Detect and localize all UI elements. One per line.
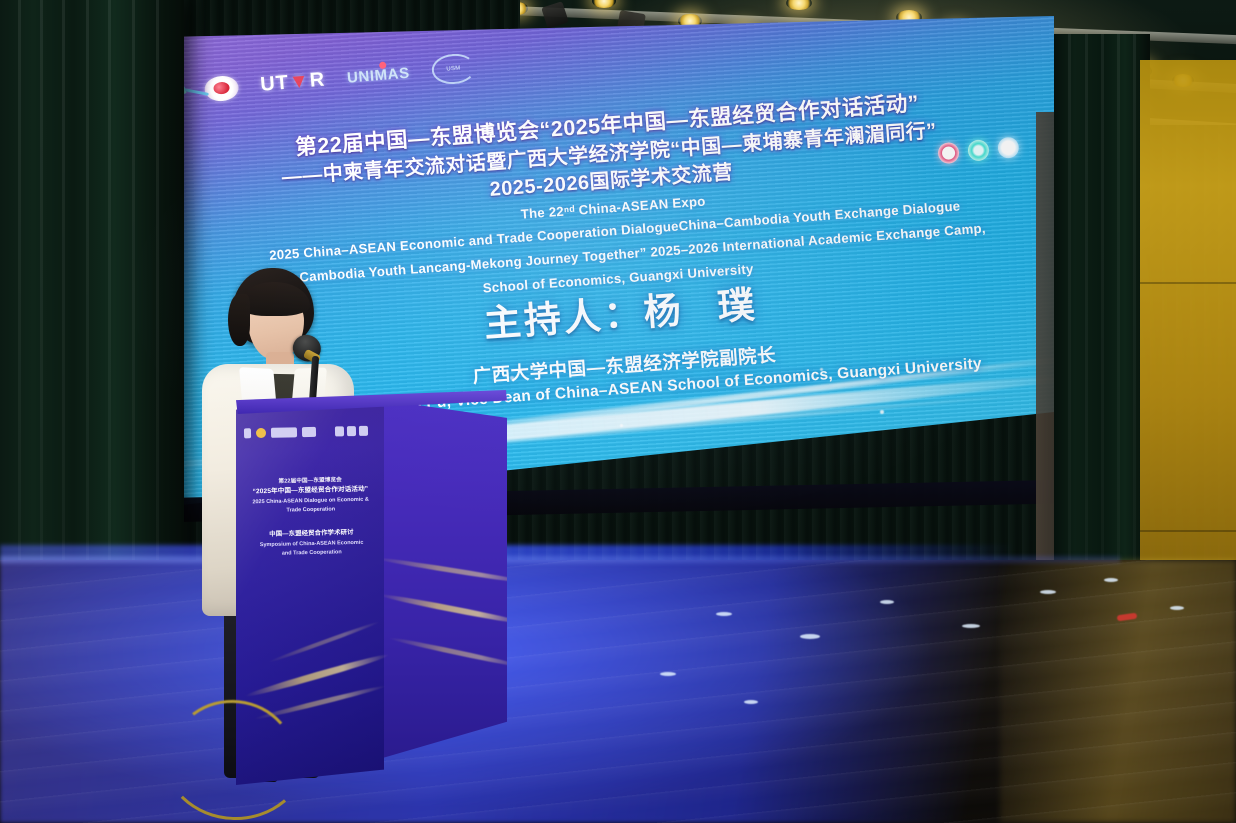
partner-logo-2 xyxy=(271,427,297,438)
title-en-line1: 2025 China–ASEAN Economic and Trade Coop… xyxy=(180,191,1051,272)
light-ribbon xyxy=(482,348,1054,431)
wechat-icon xyxy=(937,142,960,165)
partner-logo-4 xyxy=(335,426,344,436)
podium-side-panel xyxy=(383,400,507,772)
partner-logo-5 xyxy=(347,426,356,436)
usm-logo: USM xyxy=(430,52,476,86)
podium-logo-bar xyxy=(244,423,376,442)
china-emblem-logo xyxy=(204,74,240,102)
caexpo-logo xyxy=(244,428,251,438)
host-name-second: 璞 xyxy=(716,284,759,328)
unimas-logo: UNIMAS xyxy=(346,64,410,86)
podium-text-block: 第22届中国—东盟博览会 “2025年中国—东盟经贸合作对话活动” 2025 C… xyxy=(239,476,383,559)
screen-corner-icons xyxy=(937,136,1020,164)
partner-logo-1 xyxy=(256,428,266,438)
host-label: 主持人： xyxy=(483,292,646,344)
floor-warm-light xyxy=(1000,560,1236,823)
title-cn-line3: 2025-2026国际学术交流营 xyxy=(180,137,1048,225)
title-en-small: The 22ⁿᵈ China-ASEAN Expo xyxy=(180,167,1050,248)
screen-logo-row: UT▼R UNIMAS USM xyxy=(203,52,476,104)
utar-logo: UT▼R xyxy=(259,68,326,96)
partner-logo-6 xyxy=(359,426,368,436)
globe-icon xyxy=(967,139,990,162)
speaker-hair-side xyxy=(228,294,250,346)
decorative-flower-icon xyxy=(180,62,216,112)
title-cn-line2: ——中柬青年交流对话暨广西大学经济学院“中国—柬埔寨青年澜湄同行” xyxy=(180,110,1046,198)
share-icon xyxy=(997,136,1020,159)
title-cn-line1: 第22届中国—东盟博览会“2025年中国—东盟经贸合作对话活动” xyxy=(180,81,1044,171)
stage-photo: UT▼R UNIMAS USM 第22届中国—东盟博览会“2025年中国—东盟经… xyxy=(0,0,1236,823)
host-name-first: 杨 xyxy=(642,289,685,333)
podium-text-en-1b: Trade Cooperation xyxy=(240,505,382,516)
partner-logo-3 xyxy=(302,427,316,437)
